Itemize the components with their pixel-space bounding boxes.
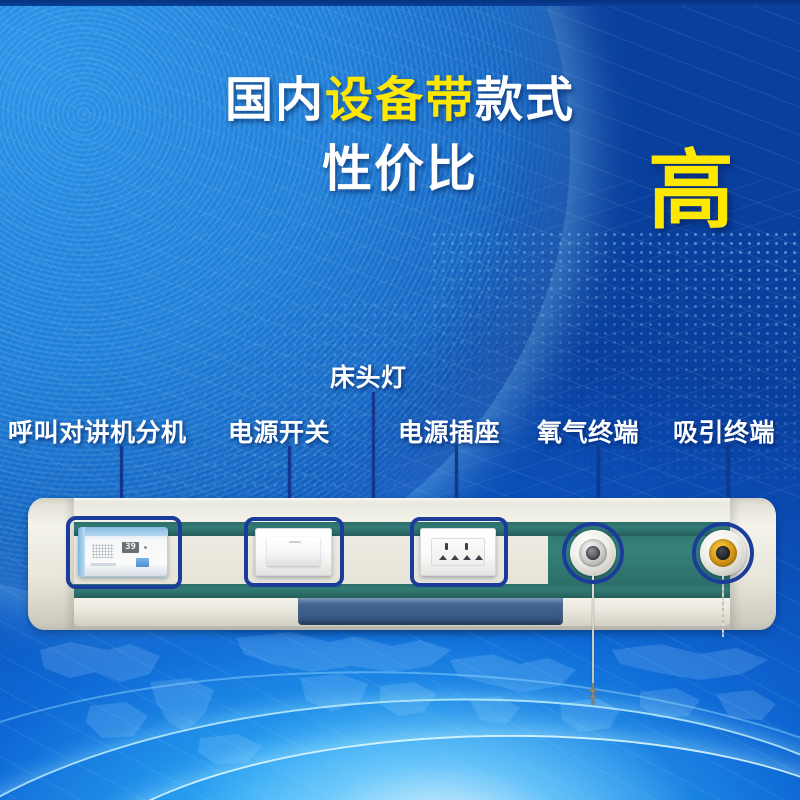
suction-hanging-cord xyxy=(722,575,724,637)
highlight-box-power-socket xyxy=(410,517,508,587)
highlight-circle-suction-terminal xyxy=(692,522,754,584)
halftone-dot-field-secondary xyxy=(140,300,470,490)
highlight-box-power-switch xyxy=(244,517,344,587)
callout-label-suction-terminal: 吸引终端 xyxy=(673,413,775,449)
callout-label-power-socket: 电源插座 xyxy=(398,413,500,449)
headline-line1-part2: 设备带 xyxy=(325,72,475,128)
headline-line2-part1: 性价比 xyxy=(322,140,478,198)
callout-label-power-switch: 电源开关 xyxy=(228,413,330,449)
highlight-circle-oxygen-terminal xyxy=(562,522,624,584)
headline-emphasis-gao: 高 xyxy=(648,148,734,234)
headline-line-1: 国内设备带款式 xyxy=(0,76,800,124)
cord-hook-icon xyxy=(585,683,601,705)
headline-line1-part3: 款式 xyxy=(475,72,575,128)
product-promo-image: 国内设备带款式 性价比 高 呼叫对讲机分机 电源开关 床头灯 电源插座 氧气终端… xyxy=(0,0,800,800)
headline-line1-part1: 国内 xyxy=(225,72,325,128)
callout-label-call-intercom-extension: 呼叫对讲机分机 xyxy=(8,413,187,449)
highlight-box-call-intercom-extension xyxy=(66,516,182,589)
top-edge-bar xyxy=(0,0,800,6)
callout-label-bedside-lamp: 床头灯 xyxy=(330,358,407,394)
callout-label-oxygen-terminal: 氧气终端 xyxy=(537,413,639,449)
oxygen-hanging-cord xyxy=(592,575,594,685)
bedside-lamp-diffuser[interactable] xyxy=(298,598,563,625)
